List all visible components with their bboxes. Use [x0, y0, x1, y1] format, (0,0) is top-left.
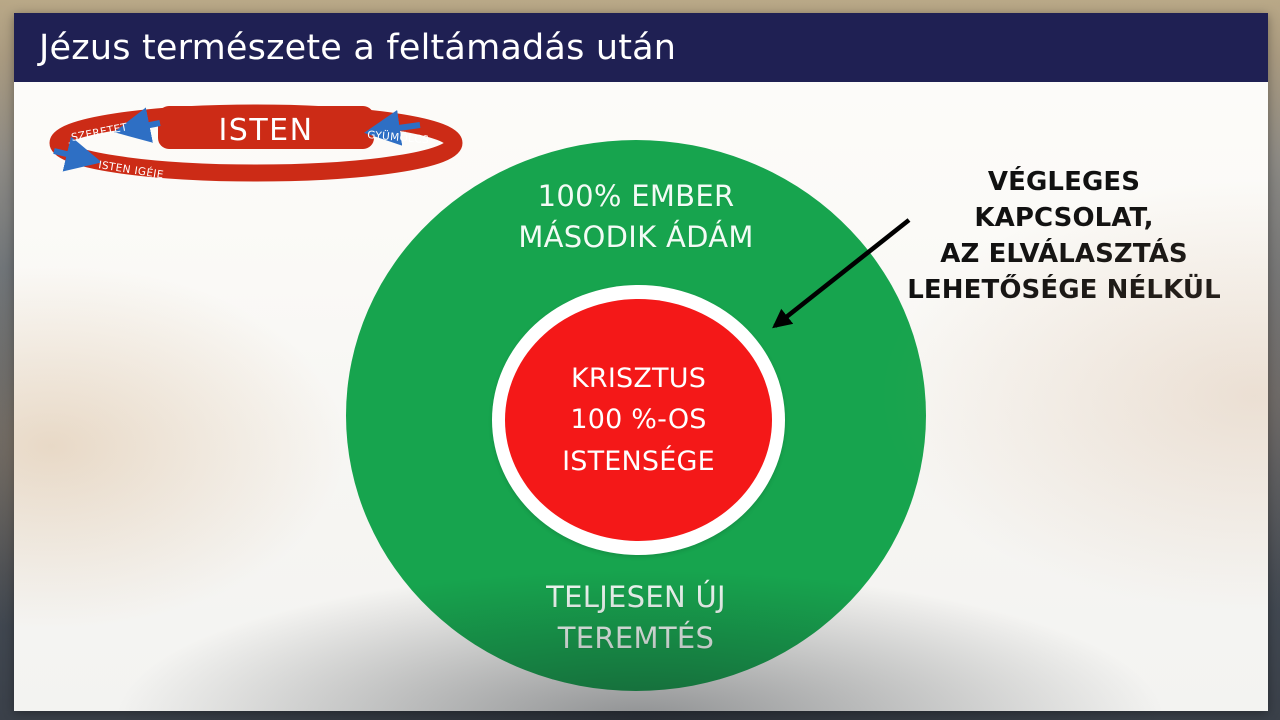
- white-ring: KRISZTUS 100 %-OS ISTENSÉGE: [492, 285, 785, 555]
- presentation-slide: Jézus természete a feltámadás után: [14, 13, 1268, 711]
- annotation-text: VÉGLEGES KAPCSOLAT, AZ ELVÁLASZTÁS LEHET…: [894, 165, 1234, 309]
- green-circle-bottom-label: TELJESEN ÚJ TEREMTÉS: [346, 577, 926, 659]
- red-inner-circle: KRISZTUS 100 %-OS ISTENSÉGE: [505, 299, 772, 541]
- isten-box-label: ISTEN: [218, 113, 313, 148]
- slide-title: Jézus természete a feltámadás után: [14, 28, 676, 68]
- green-circle-top-label: 100% EMBER MÁSODIK ÁDÁM: [346, 176, 926, 258]
- desktop-backdrop: Jézus természete a feltámadás után: [0, 0, 1280, 720]
- red-circle-label: KRISZTUS 100 %-OS ISTENSÉGE: [562, 358, 715, 481]
- isten-loop-svg: SZERETET GYÜMÖLCS ISTEN IGÉJE ISTEN: [40, 99, 500, 184]
- slide-title-bar: Jézus természete a feltámadás után: [14, 13, 1268, 82]
- isten-loop-diagram: SZERETET GYÜMÖLCS ISTEN IGÉJE ISTEN: [40, 99, 500, 184]
